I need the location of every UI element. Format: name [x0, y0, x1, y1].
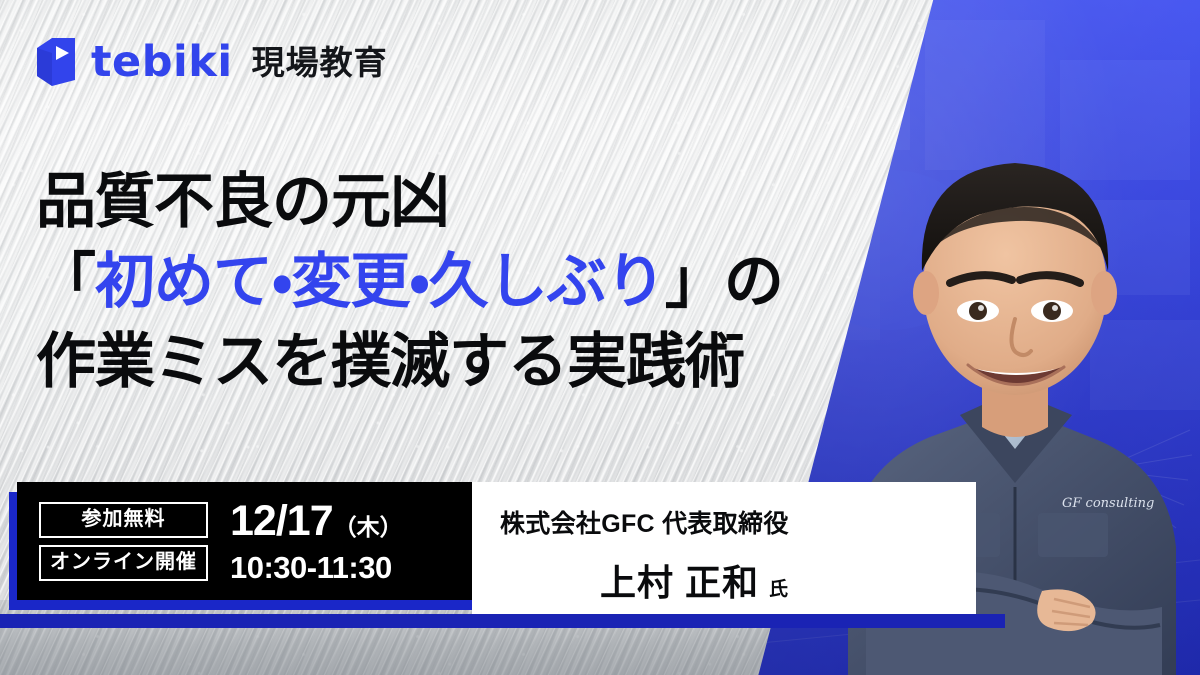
event-date: 12/17 — [230, 500, 333, 543]
speaker-company-title: 株式会社GFC 代表取締役 — [500, 504, 789, 540]
headline-close-bracket: 」 — [665, 248, 724, 315]
headline-line-2-tail: の — [724, 248, 783, 315]
headline-block: 品質不良の元凶 「初めて・変更・久しぶり」の 作業ミスを撲滅する実践術 — [36, 162, 896, 401]
logo-subtitle: 現場教育 — [252, 46, 388, 79]
speaker-name-row: 上村 正和 氏 — [600, 554, 788, 606]
headline-accent-phrase: 初めて・変更・久しぶり — [95, 248, 665, 315]
headline-line-3: 作業ミスを撲滅する実践術 — [36, 322, 896, 402]
event-info-bar: 参加無料 オンライン開催 12/17 （木） 10:30-11:30 — [17, 482, 472, 600]
tebiki-book-play-icon — [34, 36, 78, 88]
event-time: 10:30-11:30 — [230, 552, 403, 583]
webinar-banner: GF consulting — [0, 0, 1200, 675]
logo-wordmark: tebiki — [91, 41, 233, 84]
headline-line-1: 品質不良の元凶 — [36, 162, 896, 242]
speaker-name: 上村 正和 — [600, 554, 759, 606]
brand-logo[interactable]: tebiki 現場教育 — [34, 36, 388, 88]
speaker-panel: 株式会社GFC 代表取締役 上村 正和 氏 — [472, 482, 976, 614]
headline-open-bracket: 「 — [36, 248, 95, 315]
event-badges: 参加無料 オンライン開催 — [39, 502, 208, 581]
event-datetime: 12/17 （木） 10:30-11:30 — [230, 500, 403, 583]
event-day-of-week: （木） — [334, 516, 403, 539]
blue-underbar — [0, 614, 1005, 628]
badge-free-admission: 参加無料 — [39, 502, 208, 538]
badge-online-format: オンライン開催 — [39, 545, 208, 581]
svg-text:GF consulting: GF consulting — [1062, 496, 1154, 511]
headline-line-2: 「初めて・変更・久しぶり」の — [36, 242, 896, 322]
speaker-honorific: 氏 — [769, 574, 788, 601]
event-date-line: 12/17 （木） — [230, 500, 403, 543]
